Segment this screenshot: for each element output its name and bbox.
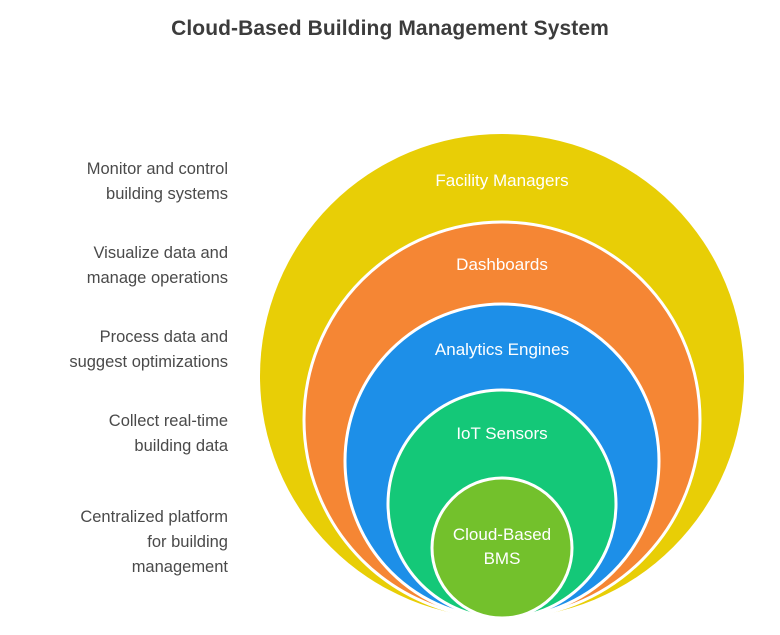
ring-circle-5[interactable] bbox=[432, 478, 572, 618]
circle-group bbox=[260, 134, 744, 618]
concentric-circles-diagram bbox=[0, 0, 780, 635]
infographic-canvas: Cloud-Based Building Management System M… bbox=[0, 0, 780, 635]
